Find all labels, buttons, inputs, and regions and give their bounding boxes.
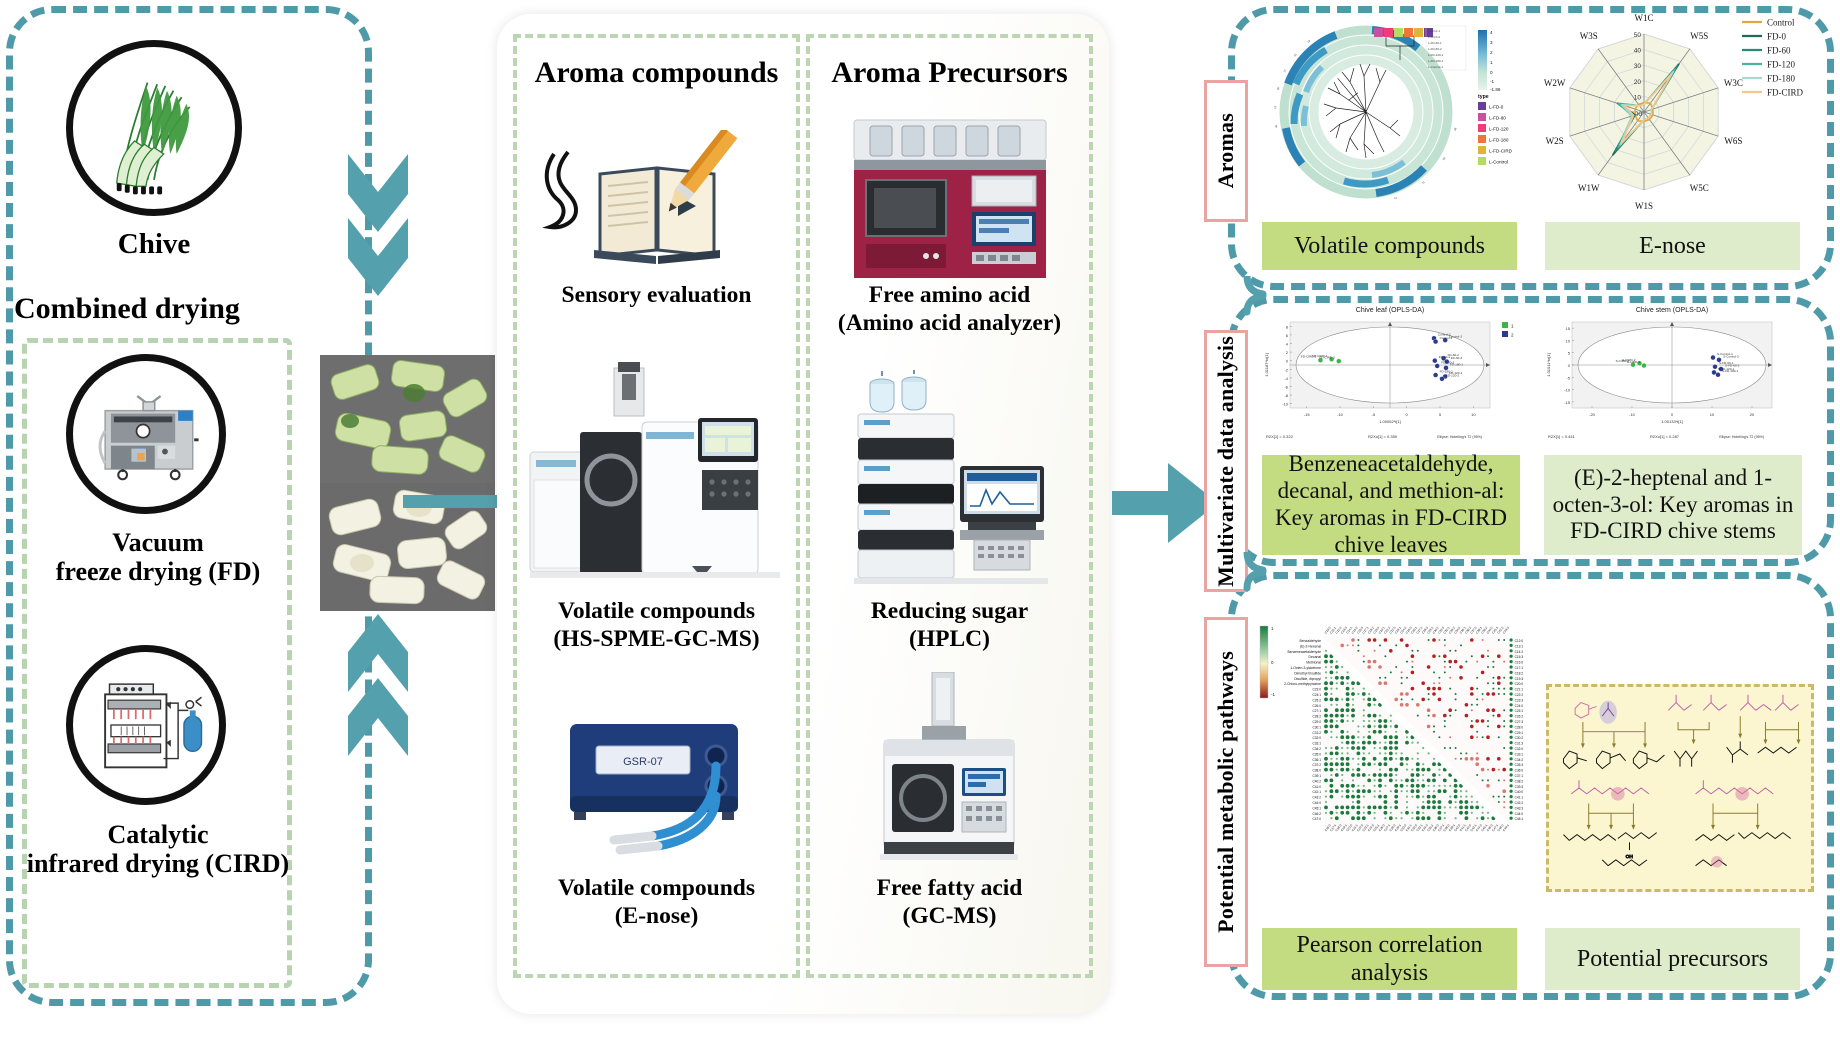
row-tag-multivariate-label: Multivariate data analysis <box>1213 336 1239 587</box>
caption-volatile-compounds: Volatile compounds <box>1262 222 1517 270</box>
svg-text:S-CIRD-3: S-CIRD-3 <box>1627 360 1641 364</box>
heat-tick-3: 1 <box>1490 60 1493 65</box>
svg-text:L-FD-180: L-FD-180 <box>1489 138 1509 143</box>
svg-text:W2W: W2W <box>1544 78 1566 88</box>
svg-text:1: 1 <box>1271 626 1274 631</box>
svg-text:19: 19 <box>1306 39 1311 44</box>
svg-text:Benzaldehyde: Benzaldehyde <box>1300 639 1322 643</box>
svg-text:C45:1: C45:1 <box>1515 817 1524 821</box>
svg-text:C30:2: C30:2 <box>1515 736 1524 740</box>
svg-text:Decanal: Decanal <box>1309 655 1322 659</box>
svg-text:C44:0: C44:0 <box>1515 812 1524 816</box>
sensory-evaluation-line1: Sensory evaluation <box>513 282 800 310</box>
reducing-sugar-label: Reducing sugar (HPLC) <box>806 598 1093 653</box>
svg-text:C37:1: C37:1 <box>1515 774 1524 778</box>
svg-text:-1: -1 <box>1271 692 1275 697</box>
svg-text:C22:2: C22:2 <box>1515 693 1524 697</box>
svg-text:-20: -20 <box>1589 412 1596 417</box>
svg-text:C32:0: C32:0 <box>1312 736 1321 740</box>
svg-text:C25:1: C25:1 <box>1515 709 1524 713</box>
row-tag-multivariate: Multivariate data analysis <box>1204 330 1248 592</box>
chive-circle <box>66 40 242 216</box>
connector-left-to-middle <box>403 495 503 508</box>
svg-text:L-FD-60: L-FD-60 <box>1489 116 1506 121</box>
svg-text:R2X[1] = 0.441: R2X[1] = 0.441 <box>1548 434 1576 439</box>
row-tag-pathways: Potential metabolic pathways <box>1204 617 1248 967</box>
caption-potential-precursors: Potential precursors <box>1545 928 1800 990</box>
svg-text:31: 31 <box>1293 52 1298 57</box>
svg-text:C46:2: C46:2 <box>1312 812 1321 816</box>
aroma-precursors-header: Aroma Precursors <box>806 56 1093 90</box>
gcms-line1: Volatile compounds <box>513 598 800 626</box>
chevron-up-arrows <box>346 612 410 762</box>
svg-text:0: 0 <box>1286 359 1289 364</box>
svg-text:S-FD-180-1: S-FD-180-1 <box>1722 369 1738 373</box>
svg-text:C42:2: C42:2 <box>1515 801 1524 805</box>
caption-e-nose: E-nose <box>1545 222 1800 270</box>
svg-text:38: 38 <box>1276 86 1281 90</box>
svg-text:W3S: W3S <box>1580 31 1598 41</box>
svg-text:L-FD-0: L-FD-0 <box>1489 105 1504 110</box>
svg-text:Dimethyl trisulfide: Dimethyl trisulfide <box>1294 671 1321 675</box>
e-nose-icon: GSR-07 <box>540 690 780 860</box>
sensory-evaluation-icon <box>528 130 786 280</box>
svg-text:C24:1: C24:1 <box>1312 693 1321 697</box>
heat-tick-6: -1.86 <box>1490 87 1501 92</box>
molecule-structures-icon: OH <box>1549 687 1811 889</box>
svg-text:C36:0: C36:0 <box>1515 769 1524 773</box>
svg-text:C21:1: C21:1 <box>1515 688 1524 692</box>
svg-text:Disulfide, dipropyl: Disulfide, dipropyl <box>1294 677 1321 681</box>
chevron-down-arrows <box>346 152 410 302</box>
heat-tick-5: -1 <box>1490 79 1495 84</box>
vacuum-freeze-drying-label: Vacuum freeze drying (FD) <box>10 528 306 586</box>
svg-text:45: 45 <box>1274 124 1279 128</box>
svg-text:56: 56 <box>1453 127 1458 131</box>
svg-text:12: 12 <box>1273 105 1277 109</box>
svg-text:20: 20 <box>1750 412 1755 417</box>
cird-label-line1: Catalytic <box>4 820 312 849</box>
svg-text:C20:0: C20:0 <box>1515 682 1524 686</box>
svg-text:C14:2: C14:2 <box>1515 650 1524 654</box>
svg-text:C35:3: C35:3 <box>1515 763 1524 767</box>
svg-text:-6: -6 <box>1284 385 1288 390</box>
gcms-line2: (HS-SPME-GC-MS) <box>513 626 800 654</box>
svg-text:FD-180-1: FD-180-1 <box>1450 362 1463 366</box>
svg-text:FD-0: FD-0 <box>1767 32 1787 42</box>
svg-text:C26:2: C26:2 <box>1515 715 1524 719</box>
catalytic-infrared-dryer-circle <box>66 645 226 805</box>
svg-text:5: 5 <box>1439 412 1442 417</box>
svg-text:L-FD-180-1: L-FD-180-1 <box>1428 59 1444 63</box>
svg-text:C35:0: C35:0 <box>1312 752 1321 756</box>
svg-text:0: 0 <box>1271 660 1274 665</box>
radar-chart-figure: 1020304050-100W1CW5SW3CW6SW5CW1SW1WW2SW2… <box>1524 8 1824 212</box>
row-tag-aromas: Aromas <box>1204 80 1248 222</box>
svg-text:L-Control: L-Control <box>1489 160 1508 165</box>
fatty-line2: (GC-MS) <box>806 903 1093 931</box>
svg-text:1: 1 <box>1511 324 1514 329</box>
svg-text:4: 4 <box>1286 342 1289 347</box>
gc-ms-icon <box>522 360 794 590</box>
svg-text:74: 74 <box>1393 196 1398 201</box>
enose-line2: (E-nose) <box>513 903 800 931</box>
svg-text:C34:2: C34:2 <box>1312 747 1321 751</box>
row-tag-aromas-label: Aromas <box>1213 113 1239 188</box>
svg-text:GSR-07: GSR-07 <box>623 756 663 768</box>
svg-text:30: 30 <box>1634 63 1642 70</box>
svg-text:2: 2 <box>1286 350 1289 355</box>
caption-stem-key-aromas: (E)-2-heptenal and 1-octen-3-ol: Key aro… <box>1544 455 1802 555</box>
svg-text:W6S: W6S <box>1724 136 1742 146</box>
svg-text:C24:0: C24:0 <box>1515 704 1524 708</box>
heat-tick-1: 3 <box>1490 40 1493 45</box>
svg-text:6: 6 <box>1286 333 1289 338</box>
svg-text:-8: -8 <box>1284 393 1288 398</box>
svg-text:Chive stem (OPLS-DA): Chive stem (OPLS-DA) <box>1636 307 1708 314</box>
precursor-structures-panel: OH <box>1546 684 1814 892</box>
fatty-line1: Free fatty acid <box>806 875 1093 903</box>
e-nose-label: Volatile compounds (E-nose) <box>513 875 800 930</box>
svg-text:FD-CIRD-3: FD-CIRD-3 <box>1319 356 1335 360</box>
svg-text:10: 10 <box>1471 412 1476 417</box>
chive-label: Chive <box>66 228 242 260</box>
row-connector-1 <box>1243 276 1277 316</box>
caption-leaf-key-aromas: Benzeneacetaldehyde, decanal, and methio… <box>1262 455 1520 555</box>
svg-text:8: 8 <box>1286 324 1289 329</box>
caption-pearson: Pearson correlation analysis <box>1262 928 1517 990</box>
cird-label-line2: infrared drying (CIRD) <box>4 849 312 878</box>
svg-text:(E)-2-Hexenal: (E)-2-Hexenal <box>1300 644 1321 648</box>
svg-text:Ellipse: Hotelling's T2 (95%): Ellipse: Hotelling's T2 (95%) <box>1719 435 1764 439</box>
svg-text:20: 20 <box>1634 79 1642 86</box>
svg-text:C40:0: C40:0 <box>1515 790 1524 794</box>
svg-text:C15:3: C15:3 <box>1515 655 1524 659</box>
gc-ms-label: Volatile compounds (HS-SPME-GC-MS) <box>513 598 800 653</box>
svg-text:71: 71 <box>1421 180 1426 185</box>
sensory-evaluation-label: Sensory evaluation <box>513 282 800 310</box>
svg-text:C31:2: C31:2 <box>1312 731 1321 735</box>
opls-da-leaf-figure: Chive leaf (OPLS-DA)86420-2-4-6-8-10-15-… <box>1258 300 1526 452</box>
opls-da-stem-figure: Chive stem (OPLS-DA)151050-5-10-15-20-10… <box>1540 300 1808 452</box>
sugar-line2: (HPLC) <box>806 626 1093 654</box>
svg-text:L-FD-60-2: L-FD-60-2 <box>1428 47 1442 51</box>
fd-label-line1: Vacuum <box>10 528 306 557</box>
fresh-chive-photo <box>320 355 495 483</box>
svg-text:C47:0: C47:0 <box>1312 817 1321 821</box>
svg-text:C13:1: C13:1 <box>1515 644 1524 648</box>
heat-tick-0: 4 <box>1490 30 1493 35</box>
svg-text:1-Octen-3-ylacetone: 1-Octen-3-ylacetone <box>1290 666 1321 670</box>
svg-text:C40:2: C40:2 <box>1312 779 1321 783</box>
svg-text:C17:1: C17:1 <box>1515 666 1524 670</box>
svg-text:10: 10 <box>1566 338 1571 343</box>
circular-heatmap-figure: 45 12 38 27 31 19 56 63 71 74 <box>1258 12 1518 212</box>
svg-text:0: 0 <box>1406 412 1409 417</box>
svg-text:C37:2: C37:2 <box>1312 763 1321 767</box>
svg-text:5: 5 <box>1568 351 1571 356</box>
svg-text:40: 40 <box>1634 48 1642 55</box>
svg-text:C41:1: C41:1 <box>1515 796 1524 800</box>
svg-text:OH: OH <box>1626 854 1634 860</box>
svg-text:FD-CIRD: FD-CIRD <box>1767 88 1804 98</box>
svg-text:L-FD-120: L-FD-120 <box>1489 127 1509 132</box>
svg-text:C43:2: C43:2 <box>1312 796 1321 800</box>
svg-text:C29:1: C29:1 <box>1515 731 1524 735</box>
free-amino-acid-label: Free amino acid (Amino acid analyzer) <box>806 282 1093 337</box>
svg-text:R2Xo[1] = 0.287: R2Xo[1] = 0.287 <box>1650 434 1680 439</box>
svg-text:C25:2: C25:2 <box>1312 698 1321 702</box>
svg-text:C39:1: C39:1 <box>1312 774 1321 778</box>
svg-text:W1W: W1W <box>1578 183 1600 193</box>
vacuum-freeze-dryer-circle <box>66 354 226 514</box>
aroma-compounds-header: Aroma compounds <box>513 56 800 90</box>
svg-text:FD-120: FD-120 <box>1767 60 1796 70</box>
svg-text:C34:2: C34:2 <box>1515 758 1524 762</box>
svg-text:L-FD-120-1: L-FD-120-1 <box>1428 53 1444 57</box>
svg-text:L-FD-0-1: L-FD-0-1 <box>1428 29 1440 33</box>
svg-text:FD-120-2: FD-120-2 <box>1446 373 1459 377</box>
svg-text:2: 2 <box>1511 333 1514 338</box>
svg-text:FD-CIRD-2: FD-CIRD-2 <box>1301 355 1317 359</box>
svg-text:W5S: W5S <box>1690 31 1708 41</box>
svg-text:Control: Control <box>1767 18 1795 28</box>
svg-text:C43:0: C43:0 <box>1502 626 1510 635</box>
catalytic-infrared-dryer-icon <box>73 652 219 798</box>
svg-text:C42:1: C42:1 <box>1312 790 1321 794</box>
svg-text:C38:0: C38:0 <box>1312 769 1321 773</box>
svg-text:C23:3: C23:3 <box>1515 698 1524 702</box>
svg-text:C33:1: C33:1 <box>1515 752 1524 756</box>
svg-text:R2X[1] = 0.322: R2X[1] = 0.322 <box>1266 434 1294 439</box>
catalytic-infrared-drying-label: Catalytic infrared drying (CIRD) <box>4 820 312 878</box>
svg-text:C27:3: C27:3 <box>1515 720 1524 724</box>
svg-text:C43:3: C43:3 <box>1515 806 1524 810</box>
svg-text:Control-1: Control-1 <box>1440 336 1453 340</box>
combined-drying-title: Combined drying <box>14 292 314 326</box>
svg-text:R2Xo[1] = 0.359: R2Xo[1] = 0.359 <box>1368 434 1398 439</box>
svg-text:-5: -5 <box>1566 375 1570 380</box>
svg-text:Methional: Methional <box>1306 661 1321 665</box>
svg-text:C31:3: C31:3 <box>1515 742 1524 746</box>
row-tag-pathways-label: Potential metabolic pathways <box>1213 651 1239 933</box>
amino-line2: (Amino acid analyzer) <box>806 310 1093 338</box>
svg-text:C38:2: C38:2 <box>1515 779 1524 783</box>
svg-text:C23:0: C23:0 <box>1312 688 1321 692</box>
svg-text:Benzeneacetaldehyde: Benzeneacetaldehyde <box>1287 650 1321 654</box>
svg-text:-10: -10 <box>1282 402 1289 407</box>
svg-text:C16:0: C16:0 <box>1515 661 1524 665</box>
svg-text:FD-60-1: FD-60-1 <box>1439 355 1451 359</box>
svg-text:15: 15 <box>1566 326 1571 331</box>
svg-text:type: type <box>1478 94 1489 100</box>
svg-text:C33:1: C33:1 <box>1312 742 1321 746</box>
svg-text:C27:1: C27:1 <box>1312 709 1321 713</box>
svg-text:C29:0: C29:0 <box>1312 720 1321 724</box>
svg-text:FD-60: FD-60 <box>1767 46 1791 56</box>
svg-text:1.00133*t[1]: 1.00133*t[1] <box>1661 419 1683 424</box>
svg-text:2-Chloro-methylpyrazine: 2-Chloro-methylpyrazine <box>1284 682 1321 686</box>
svg-text:C44:0: C44:0 <box>1312 801 1321 805</box>
svg-text:-10: -10 <box>1337 412 1344 417</box>
svg-text:Ellipse: Hotelling's T2 (95%): Ellipse: Hotelling's T2 (95%) <box>1437 435 1482 439</box>
svg-text:10: 10 <box>1634 94 1642 101</box>
hplc-icon <box>840 370 1060 590</box>
svg-text:L-FD-60-1: L-FD-60-1 <box>1428 41 1442 45</box>
svg-text:50: 50 <box>1634 32 1642 39</box>
svg-text:-10: -10 <box>1629 412 1636 417</box>
svg-text:FD-180: FD-180 <box>1767 74 1796 84</box>
svg-text:C26:0: C26:0 <box>1312 704 1321 708</box>
svg-text:0: 0 <box>1568 363 1571 368</box>
svg-text:W3C: W3C <box>1724 78 1743 88</box>
svg-text:L-Control-1: L-Control-1 <box>1428 65 1443 69</box>
fd-label-line2: freeze drying (FD) <box>10 557 306 586</box>
svg-text:C41:0: C41:0 <box>1312 785 1321 789</box>
svg-text:1.01187*to[1]: 1.01187*to[1] <box>1264 353 1269 377</box>
svg-text:C45:1: C45:1 <box>1312 806 1321 810</box>
svg-text:C30:1: C30:1 <box>1312 725 1321 729</box>
sugar-line1: Reducing sugar <box>806 598 1093 626</box>
svg-text:10: 10 <box>1710 412 1715 417</box>
enose-line1: Volatile compounds <box>513 875 800 903</box>
graphical-abstract: Chive Combined drying Vacuum <box>0 0 1840 1052</box>
row-connector-2 <box>1243 552 1277 592</box>
svg-text:W1S: W1S <box>1635 201 1653 211</box>
svg-text:W1C: W1C <box>1635 13 1654 23</box>
svg-text:C36:1: C36:1 <box>1312 758 1321 762</box>
svg-text:C12:0: C12:0 <box>1515 639 1524 643</box>
svg-text:-15: -15 <box>1564 400 1571 405</box>
svg-text:63: 63 <box>1441 157 1446 162</box>
svg-text:-4: -4 <box>1284 376 1288 381</box>
gc-ms-fatty-acid-icon <box>858 672 1042 860</box>
chive-illustration-icon <box>73 47 235 209</box>
svg-text:W2S: W2S <box>1546 136 1564 146</box>
svg-text:-15: -15 <box>1304 412 1311 417</box>
svg-text:1.01011*to[1]: 1.01011*to[1] <box>1546 353 1551 377</box>
free-fatty-acid-label: Free fatty acid (GC-MS) <box>806 875 1093 930</box>
heat-tick-4: 0 <box>1490 70 1493 75</box>
svg-text:L-FD-0-2: L-FD-0-2 <box>1428 35 1440 39</box>
svg-text:C28:0: C28:0 <box>1515 725 1524 729</box>
svg-text:W5C: W5C <box>1690 183 1709 193</box>
svg-text:C28:2: C28:2 <box>1312 715 1321 719</box>
svg-text:C39:3: C39:3 <box>1515 785 1524 789</box>
amino-line1: Free amino acid <box>806 282 1093 310</box>
amino-acid-analyzer-icon <box>840 118 1060 280</box>
svg-text:-2: -2 <box>1284 367 1288 372</box>
svg-text:C32:0: C32:0 <box>1515 747 1524 751</box>
svg-text:27: 27 <box>1282 68 1287 73</box>
svg-text:C18:2: C18:2 <box>1515 671 1524 675</box>
svg-text:-5: -5 <box>1372 412 1376 417</box>
heat-tick-2: 2 <box>1490 50 1493 55</box>
svg-text:-10: -10 <box>1564 388 1571 393</box>
svg-text:Chive leaf (OPLS-DA): Chive leaf (OPLS-DA) <box>1356 307 1424 314</box>
pearson-correlation-figure: 10-1Benzaldehyde(E)-2-HexenalBenzeneacet… <box>1254 582 1526 882</box>
svg-text:C19:3: C19:3 <box>1515 677 1524 681</box>
svg-text:S-Control-2: S-Control-2 <box>1723 354 1739 358</box>
freeze-dryer-icon <box>73 361 219 507</box>
svg-text:1.00052*t[1]: 1.00052*t[1] <box>1379 419 1401 424</box>
svg-text:L-FD-CIRD: L-FD-CIRD <box>1489 149 1513 154</box>
svg-text:0: 0 <box>1671 412 1674 417</box>
